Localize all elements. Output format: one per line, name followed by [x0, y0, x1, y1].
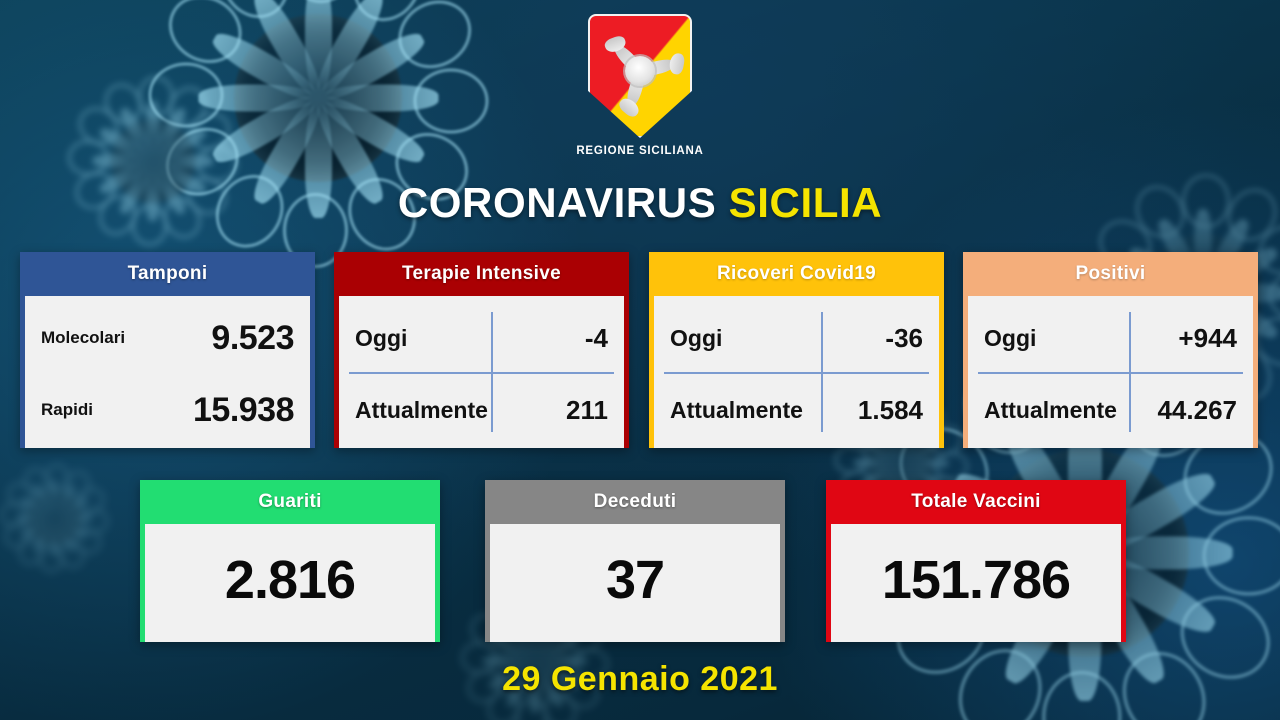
stat-card-title: Positivi	[963, 252, 1258, 296]
stat-label: Oggi	[339, 325, 407, 352]
stat-card-body: Molecolari 9.523 Rapidi 15.938	[25, 296, 310, 448]
stat-value: 44.267	[1157, 395, 1253, 426]
stat-label: Attualmente	[339, 397, 488, 424]
virus-spike-shape	[31, 516, 58, 554]
stat-card-body: Oggi -4 Attualmente 211	[339, 296, 624, 448]
stat-row: Attualmente 211	[339, 372, 624, 448]
stat-card-body: Oggi +944 Attualmente 44.267	[968, 296, 1253, 448]
virus-spike-shape	[50, 518, 59, 556]
virus-spike-shape	[50, 516, 77, 554]
stat-value: 37	[606, 549, 664, 611]
report-date: 29 Gennaio 2021	[0, 660, 1280, 699]
stat-value: -4	[585, 323, 624, 354]
stat-row: Oggi +944	[968, 300, 1253, 376]
page-title-accent: SICILIA	[729, 179, 883, 226]
stat-row: Oggi -36	[654, 300, 939, 376]
virus-spike-shape	[901, 458, 948, 469]
stat-row: Attualmente 1.584	[654, 372, 939, 448]
crest-shield-shape	[588, 14, 692, 138]
virus-spike-shape	[16, 514, 54, 523]
page-title-main: CORONAVIRUS	[398, 179, 717, 226]
virus-spike-shape	[19, 495, 57, 522]
stat-value: 1.584	[858, 395, 939, 426]
stat-label: Attualmente	[654, 397, 803, 424]
virus-spike-shape	[54, 514, 92, 523]
stat-card-body: 37	[490, 524, 780, 642]
crest-medusa-head-shape	[625, 56, 655, 86]
stat-value: 15.938	[193, 391, 310, 430]
stat-row: Attualmente 44.267	[968, 372, 1253, 448]
virus-spike-shape	[31, 483, 58, 521]
virus-spike-shape	[50, 483, 77, 521]
regione-siciliana-emblem: REGIONE SICILIANA	[576, 14, 703, 157]
virus-spike-shape	[52, 514, 90, 541]
stat-value: -36	[885, 323, 939, 354]
stat-card-title: Guariti	[140, 480, 440, 524]
virus-spike-shape	[50, 480, 59, 518]
stat-card-title: Totale Vaccini	[826, 480, 1126, 524]
stat-label: Molecolari	[25, 328, 125, 348]
stat-card-tamponi: Tamponi Molecolari 9.523 Rapidi 15.938	[20, 252, 315, 448]
stat-card-positivi: Positivi Oggi +944 Attualmente 44.267	[963, 252, 1258, 448]
virus-particle-icon	[6, 470, 102, 566]
stat-label: Attualmente	[968, 397, 1117, 424]
stat-card-title: Tamponi	[20, 252, 315, 296]
stat-card-title: Deceduti	[485, 480, 785, 524]
stat-card-terapie-intensive: Terapie Intensive Oggi -4 Attualmente 21…	[334, 252, 629, 448]
stat-card-ricoveri-covid19: Ricoveri Covid19 Oggi -36 Attualmente 1.…	[649, 252, 944, 448]
stat-row: Molecolari 9.523	[25, 300, 310, 376]
stat-value: 151.786	[882, 549, 1070, 611]
stat-card-body: 151.786	[831, 524, 1121, 642]
infographic-canvas: REGIONE SICILIANA CORONAVIRUS SICILIA Ta…	[0, 0, 1280, 720]
stat-value: 211	[566, 395, 624, 426]
stat-value: 9.523	[211, 319, 310, 358]
stat-card-body: 2.816	[145, 524, 435, 642]
stat-card-deceduti: Deceduti 37	[485, 480, 785, 642]
stat-label: Oggi	[654, 325, 722, 352]
virus-spike-shape	[854, 458, 901, 469]
stat-card-guariti: Guariti 2.816	[140, 480, 440, 642]
trinacria-crest-icon	[588, 14, 692, 138]
stat-row: Oggi -4	[339, 300, 624, 376]
stat-card-body: Oggi -36 Attualmente 1.584	[654, 296, 939, 448]
emblem-caption: REGIONE SICILIANA	[576, 145, 703, 157]
stat-value: +944	[1178, 323, 1253, 354]
stat-row: Rapidi 15.938	[25, 372, 310, 448]
stat-card-title: Ricoveri Covid19	[649, 252, 944, 296]
stat-card-totale-vaccini: Totale Vaccini 151.786	[826, 480, 1126, 642]
stat-card-title: Terapie Intensive	[334, 252, 629, 296]
page-title: CORONAVIRUS SICILIA	[0, 179, 1280, 227]
virus-spike-shape	[19, 514, 57, 541]
stat-label: Oggi	[968, 325, 1036, 352]
stat-value: 2.816	[225, 549, 355, 611]
header: REGIONE SICILIANA CORONAVIRUS SICILIA	[0, 0, 1280, 227]
stat-label: Rapidi	[25, 400, 93, 420]
virus-spike-shape	[52, 495, 90, 522]
